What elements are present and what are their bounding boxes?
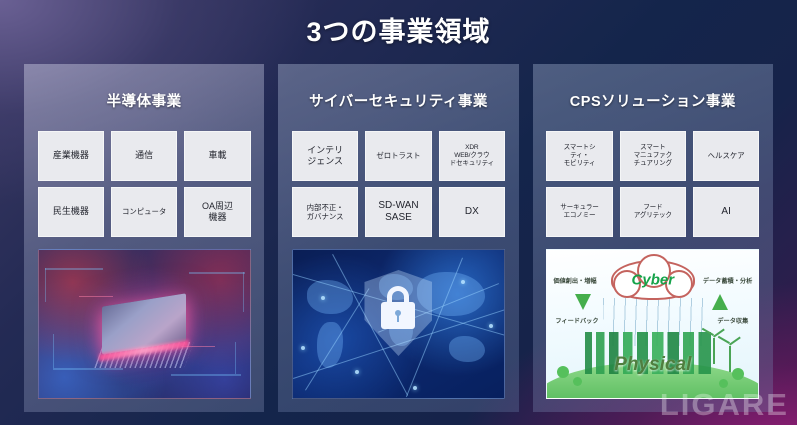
label-feedback: フィードバック bbox=[555, 316, 598, 325]
tile-grid-semiconductor: 産業機器 通信 車載 民生機器 コンピュータ OA周辺 機器 bbox=[38, 131, 251, 237]
panel-cps-solution[interactable]: CPSソリューション事業 スマートシ ティ・ モビリティ スマート マニュファク… bbox=[533, 64, 773, 412]
panel-cybersecurity[interactable]: サイバーセキュリティ事業 インテリ ジェンス ゼロトラスト XDR WEB/クラ… bbox=[278, 64, 518, 412]
tile-item[interactable]: DX bbox=[439, 187, 505, 237]
panel-title-cps-solution: CPSソリューション事業 bbox=[570, 90, 736, 111]
processor-chip-icon bbox=[102, 293, 186, 354]
cybersecurity-globe-photo bbox=[292, 249, 505, 399]
label-data-collection: データ収集 bbox=[717, 316, 748, 325]
cps-cyber-physical-diagram: Cyber 価値創出・増幅 フィードバック データ蓄積・分析 データ収集 Phy… bbox=[546, 249, 759, 399]
tile-item[interactable]: サーキュラー エコノミー bbox=[546, 187, 612, 237]
business-domains-row: 半導体事業 産業機器 通信 車載 民生機器 コンピュータ OA周辺 機器 サイバ… bbox=[24, 64, 773, 412]
slide-title-bar: 3つの事業領域 bbox=[0, 0, 797, 58]
tile-item[interactable]: コンピュータ bbox=[111, 187, 177, 237]
cyber-label: Cyber bbox=[632, 272, 675, 289]
panel-title-semiconductor: 半導体事業 bbox=[107, 90, 182, 111]
tile-item[interactable]: ヘルスケア bbox=[693, 131, 759, 181]
feedback-arrow-icon bbox=[575, 294, 591, 310]
tile-item[interactable]: SD-WAN SASE bbox=[365, 187, 431, 237]
data-collection-arrow-icon bbox=[712, 294, 728, 310]
page-title: 3つの事業領域 bbox=[306, 10, 490, 49]
tile-grid-cps-solution: スマートシ ティ・ モビリティ スマート マニュファク チュアリング ヘルスケア… bbox=[546, 131, 759, 237]
cloud-icon: Cyber bbox=[611, 260, 695, 300]
tile-item[interactable]: スマートシ ティ・ モビリティ bbox=[546, 131, 612, 181]
panel-title-cybersecurity: サイバーセキュリティ事業 bbox=[309, 90, 488, 111]
tile-item[interactable]: 車載 bbox=[184, 131, 250, 181]
tile-item[interactable]: 産業機器 bbox=[38, 131, 104, 181]
tile-item[interactable]: XDR WEB/クラウ ドセキュリティ bbox=[439, 131, 505, 181]
semiconductor-chip-photo bbox=[38, 249, 251, 399]
label-value-creation: 価値創出・増幅 bbox=[553, 276, 596, 285]
tile-item[interactable]: AI bbox=[693, 187, 759, 237]
physical-label: Physical bbox=[614, 354, 691, 376]
panel-semiconductor[interactable]: 半導体事業 産業機器 通信 車載 民生機器 コンピュータ OA周辺 機器 bbox=[24, 64, 264, 412]
tile-grid-cybersecurity: インテリ ジェンス ゼロトラスト XDR WEB/クラウ ドセキュリティ 内部不… bbox=[292, 131, 505, 237]
tile-item[interactable]: 民生機器 bbox=[38, 187, 104, 237]
tile-item[interactable]: OA周辺 機器 bbox=[184, 187, 250, 237]
tile-item[interactable]: ゼロトラスト bbox=[365, 131, 431, 181]
tile-item[interactable]: 通信 bbox=[111, 131, 177, 181]
wind-turbine-icon bbox=[729, 346, 731, 372]
tile-item[interactable]: フード アグリテック bbox=[620, 187, 686, 237]
tile-item[interactable]: インテリ ジェンス bbox=[292, 131, 358, 181]
keyhole-icon bbox=[395, 310, 401, 316]
label-data-analysis: データ蓄積・分析 bbox=[703, 276, 753, 285]
tile-item[interactable]: 内部不正・ ガバナンス bbox=[292, 187, 358, 237]
tile-item[interactable]: スマート マニュファク チュアリング bbox=[620, 131, 686, 181]
wind-turbine-icon bbox=[713, 338, 715, 364]
